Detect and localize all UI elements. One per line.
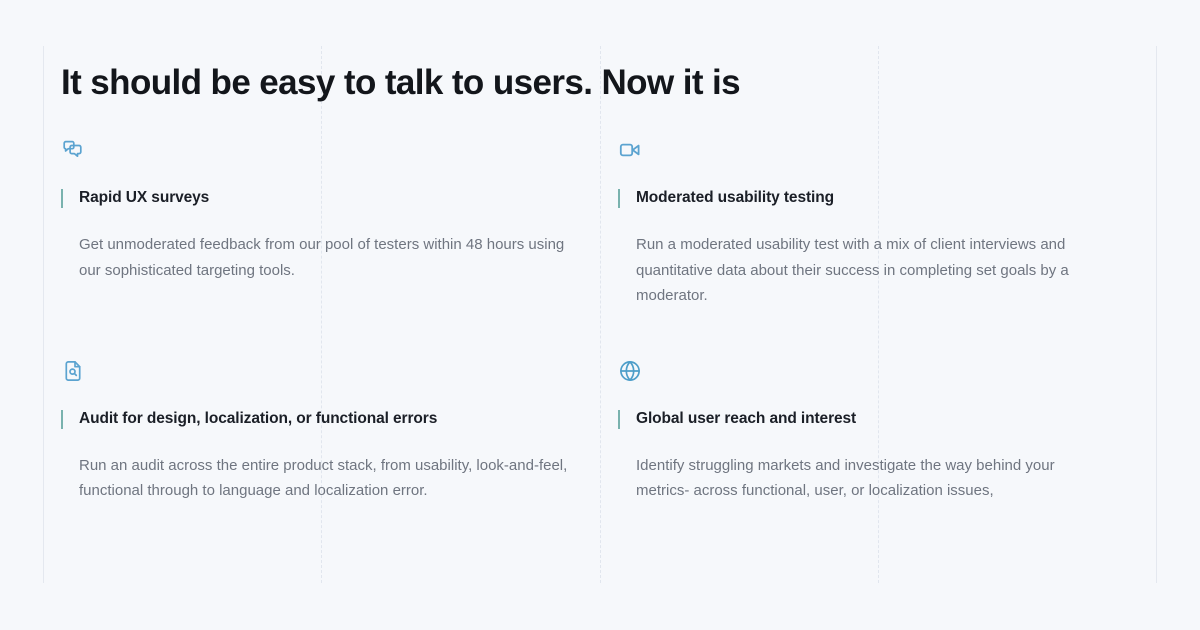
globe-icon	[618, 359, 642, 383]
feature-card-global-user-reach: Global user reach and interest Identify …	[618, 359, 1158, 504]
feature-section: It should be easy to talk to users. Now …	[0, 0, 1200, 504]
feature-title-row: Moderated usability testing	[618, 188, 1138, 208]
video-camera-icon	[618, 138, 642, 162]
feature-title-row: Global user reach and interest	[618, 409, 1138, 429]
feature-title: Audit for design, localization, or funct…	[79, 409, 598, 429]
feature-card-rapid-ux-surveys: Rapid UX surveys Get unmoderated feedbac…	[61, 138, 618, 309]
feature-title: Rapid UX surveys	[79, 188, 598, 208]
feature-card-moderated-usability-testing: Moderated usability testing Run a modera…	[618, 138, 1158, 309]
feature-title: Global user reach and interest	[636, 409, 1138, 429]
file-search-icon	[61, 359, 85, 383]
title-accent-bar	[618, 410, 620, 429]
feature-description: Run an audit across the entire product s…	[61, 453, 573, 504]
messages-icon	[61, 138, 85, 162]
feature-title-row: Audit for design, localization, or funct…	[61, 409, 598, 429]
title-accent-bar	[618, 189, 620, 208]
title-accent-bar	[61, 189, 63, 208]
feature-description: Get unmoderated feedback from our pool o…	[61, 232, 573, 283]
feature-title-row: Rapid UX surveys	[61, 188, 598, 208]
feature-card-audit-for-errors: Audit for design, localization, or funct…	[61, 359, 618, 504]
feature-title: Moderated usability testing	[636, 188, 1138, 208]
feature-description: Identify struggling markets and investig…	[618, 453, 1110, 504]
feature-grid: Rapid UX surveys Get unmoderated feedbac…	[61, 138, 1200, 504]
page-title: It should be easy to talk to users. Now …	[61, 62, 1200, 104]
title-accent-bar	[61, 410, 63, 429]
feature-description: Run a moderated usability test with a mi…	[618, 232, 1110, 309]
